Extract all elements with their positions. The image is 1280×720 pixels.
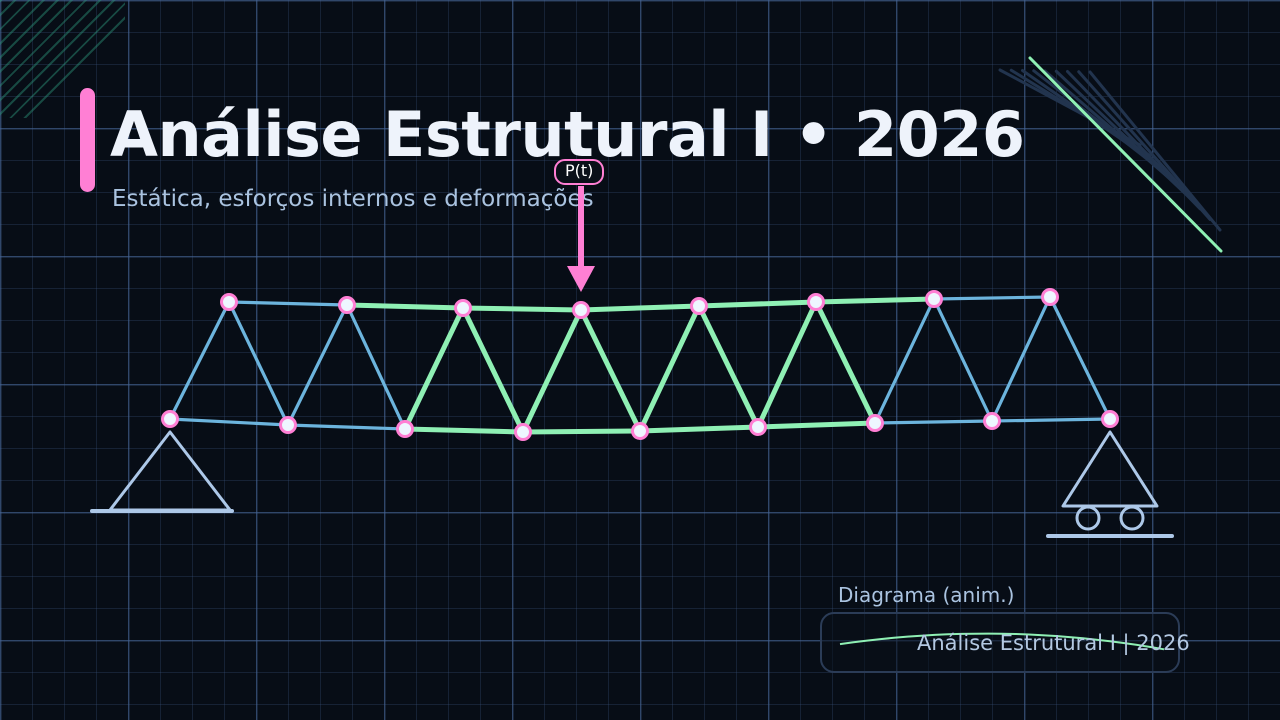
load-arrow-head: [567, 266, 595, 292]
load-label-badge[interactable]: P(t): [554, 159, 604, 185]
slide-canvas: Análise Estrutural I • 2026 Estática, es…: [0, 0, 1280, 720]
footer-text: Análise Estrutural I | 2026: [917, 633, 1190, 654]
diagram-caption: Diagrama (anim.): [838, 585, 1014, 605]
